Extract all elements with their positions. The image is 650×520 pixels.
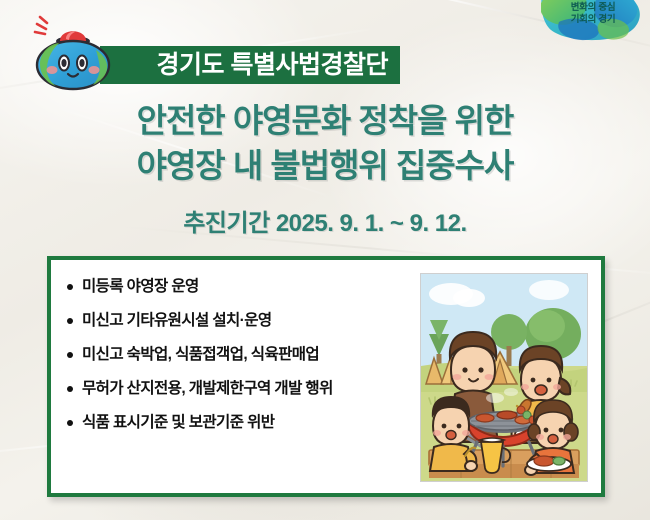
content-box: 미등록 야영장 운영 미신고 기타유원시설 설치·운영 미신고 숙박업, 식품접… xyxy=(47,256,605,497)
bullet-dot-icon xyxy=(67,420,73,426)
bullet-dot-icon xyxy=(67,352,73,358)
poster-canvas: 변화의 중심 기회의 경기 xyxy=(0,0,650,520)
violation-list: 미등록 야영장 운영 미신고 기타유원시설 설치·운영 미신고 숙박업, 식품접… xyxy=(67,278,427,448)
list-item: 무허가 산지전용, 개발제한구역 개발 행위 xyxy=(67,380,427,398)
siren-blob-mascot xyxy=(26,12,120,92)
list-item: 미등록 야영장 운영 xyxy=(67,278,427,296)
list-item: 식품 표시기준 및 보관기준 위반 xyxy=(67,414,427,432)
list-item: 미신고 기타유원시설 설치·운영 xyxy=(67,312,427,330)
list-item-label: 미등록 야영장 운영 xyxy=(82,278,199,296)
page-title-line-1: 안전한 야영문화 정착을 위한 xyxy=(0,98,650,143)
logo-line-2: 기회의 경기 xyxy=(571,14,616,25)
bullet-dot-icon xyxy=(67,386,73,392)
mascot-body xyxy=(37,41,109,89)
list-item-label: 식품 표시기준 및 보관기준 위반 xyxy=(82,414,274,432)
list-item-label: 미신고 숙박업, 식품접객업, 식육판매업 xyxy=(82,346,319,364)
motion-lines-icon xyxy=(35,17,47,34)
list-item-label: 무허가 산지전용, 개발제한구역 개발 행위 xyxy=(82,380,333,398)
bullet-dot-icon xyxy=(67,284,73,290)
organisation-badge-label: 경기도 특별사법경찰단 xyxy=(157,53,388,78)
gyeonggi-brand-logo: 변화의 중심 기회의 경기 xyxy=(541,0,645,44)
logo-text-block: 변화의 중심 기회의 경기 xyxy=(541,2,645,26)
campaign-period: 추진기간 2025. 9. 1. ~ 9. 12. xyxy=(0,203,650,238)
list-item-label: 미신고 기타유원시설 설치·운영 xyxy=(82,312,272,330)
family-camping-bbq-illustration xyxy=(420,273,588,482)
list-item: 미신고 숙박업, 식품접객업, 식육판매업 xyxy=(67,346,427,364)
bullet-dot-icon xyxy=(67,318,73,324)
page-title: 안전한 야영문화 정착을 위한 야영장 내 불법행위 집중수사 xyxy=(0,98,650,188)
organisation-badge: 경기도 특별사법경찰단 xyxy=(100,46,400,84)
logo-line-1: 변화의 중심 xyxy=(571,2,616,13)
page-title-line-2: 야영장 내 불법행위 집중수사 xyxy=(0,143,650,188)
